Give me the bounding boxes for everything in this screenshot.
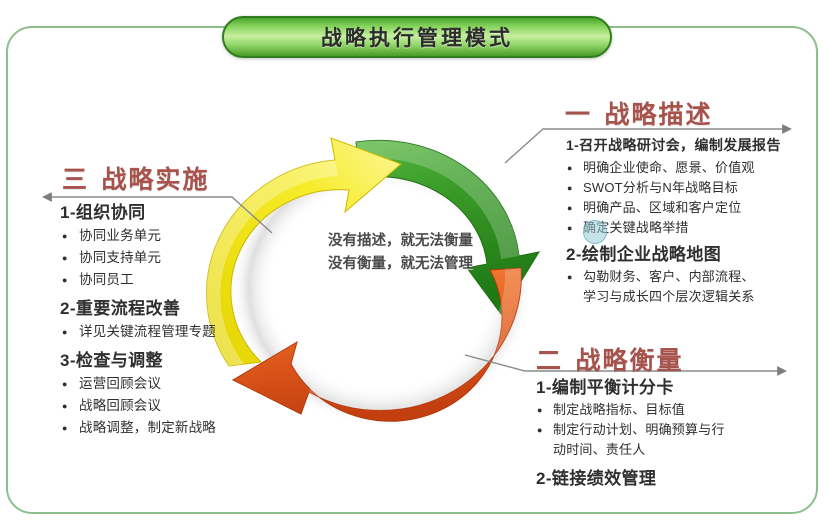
list-item: 运营回顾会议 <box>60 373 310 395</box>
list-item: 勾勒财务、客户、内部流程、 <box>566 267 822 287</box>
slogan-line-2: 没有衡量，就无法管理 <box>288 253 513 276</box>
bullet-list: 运营回顾会议 战略回顾会议 战略调整，制定新战略 <box>60 373 310 439</box>
bullet-list: 制定战略指标、目标值 制定行动计划、明确预算与行 动时间、责任人 <box>536 400 806 460</box>
content-strategy-implementation: 1-组织协同 协同业务单元 协同支持单元 协同员工 2-重要流程改善 详见关键流… <box>60 200 310 439</box>
step-label: 2-链接绩效管理 <box>536 466 806 491</box>
heading-strategy-description: 一 战略描述 <box>565 95 712 131</box>
page-title: 战略执行管理模式 <box>321 22 513 52</box>
list-item: 学习与成长四个层次逻辑关系 <box>566 287 822 307</box>
bullet-list: 协同业务单元 协同支持单元 协同员工 <box>60 225 310 291</box>
heading-strategy-implementation: 三 战略实施 <box>62 160 209 196</box>
step-label: 1-召开战略研讨会，编制发展报告 <box>566 133 822 158</box>
diagram-canvas: 战略执行管理模式 <box>0 0 827 523</box>
list-item: 详见关键流程管理专题 <box>60 321 310 343</box>
heading-strategy-measurement: 二 战略衡量 <box>536 341 683 377</box>
list-item: 战略调整，制定新战略 <box>60 417 310 439</box>
heading-number-3: 三 <box>62 166 88 194</box>
heading-number-1: 一 <box>565 101 591 129</box>
step-label: 1-编制平衡计分卡 <box>536 375 806 400</box>
step-label: 3-检查与调整 <box>60 348 310 373</box>
center-slogan: 没有描述，就无法衡量 没有衡量，就无法管理 <box>288 230 513 276</box>
list-item: 明确产品、区域和客户定位 <box>566 198 822 218</box>
list-item: 制定行动计划、明确预算与行 <box>536 420 806 440</box>
list-item: 协同业务单元 <box>60 225 310 247</box>
highlight-circle-icon <box>583 220 607 244</box>
list-item: 制定战略指标、目标值 <box>536 400 806 420</box>
list-item: SWOT分析与N年战略目标 <box>566 178 822 198</box>
content-strategy-description: 1-召开战略研讨会，编制发展报告 明确企业使命、愿景、价值观 SWOT分析与N年… <box>566 133 822 307</box>
list-item: 动时间、责任人 <box>536 440 806 460</box>
list-item: 明确企业使命、愿景、价值观 <box>566 158 822 178</box>
heading-text-2: 战略衡量 <box>575 347 683 375</box>
bullet-list: 勾勒财务、客户、内部流程、 学习与成长四个层次逻辑关系 <box>566 267 822 307</box>
list-item: 战略回顾会议 <box>60 395 310 417</box>
list-item: 协同支持单元 <box>60 247 310 269</box>
slogan-line-1: 没有描述，就无法衡量 <box>288 230 513 253</box>
heading-text-3: 战略实施 <box>101 166 209 194</box>
title-pill: 战略执行管理模式 <box>222 16 612 58</box>
step-label: 1-组织协同 <box>60 200 310 225</box>
step-label: 2-重要流程改善 <box>60 296 310 321</box>
heading-text-1: 战略描述 <box>604 101 712 129</box>
list-item: 协同员工 <box>60 269 310 291</box>
heading-number-2: 二 <box>536 347 562 375</box>
bullet-list: 详见关键流程管理专题 <box>60 321 310 343</box>
content-strategy-measurement: 1-编制平衡计分卡 制定战略指标、目标值 制定行动计划、明确预算与行 动时间、责… <box>536 375 806 491</box>
step-label: 2-绘制企业战略地图 <box>566 242 822 267</box>
